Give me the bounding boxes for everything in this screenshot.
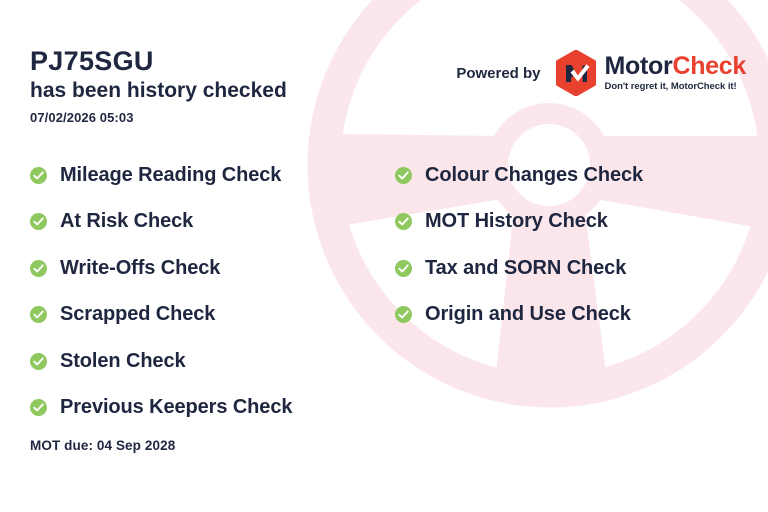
green-check-circle-icon (30, 353, 47, 370)
green-check-circle-icon (395, 260, 412, 277)
report-card: PJ75SGU has been history checked 07/02/2… (0, 0, 768, 512)
wordmark-motor: Motor (605, 52, 673, 80)
check-item: Colour Changes Check (395, 152, 740, 199)
green-check-circle-icon (395, 167, 412, 184)
motorcheck-logo[interactable]: MotorCheck Don't regret it, MotorCheck i… (555, 50, 746, 96)
green-check-circle-icon (30, 213, 47, 230)
powered-by-label: Powered by (456, 65, 540, 82)
green-check-circle-icon (30, 306, 47, 323)
green-check-circle-icon (30, 399, 47, 416)
green-check-circle-icon (395, 306, 412, 323)
check-label: Stolen Check (60, 350, 186, 373)
check-label: Write-Offs Check (60, 257, 220, 280)
motorcheck-hexagon-m-check-icon (555, 50, 597, 96)
check-item: Mileage Reading Check (30, 152, 395, 199)
report-header: PJ75SGU has been history checked 07/02/2… (30, 46, 287, 125)
check-label: Colour Changes Check (425, 164, 643, 187)
brand-tagline: Don't regret it, MotorCheck it! (605, 82, 746, 92)
check-label: Tax and SORN Check (425, 257, 626, 280)
mot-due-label: MOT due: 04 Sep 2028 (30, 438, 175, 453)
vehicle-registration: PJ75SGU (30, 46, 287, 76)
check-label: Origin and Use Check (425, 303, 631, 326)
green-check-circle-icon (30, 167, 47, 184)
checks-column-left: Mileage Reading Check At Risk Check Writ… (30, 152, 395, 431)
wordmark-text: MotorCheck (605, 54, 746, 79)
check-label: Scrapped Check (60, 303, 215, 326)
report-subtitle: has been history checked (30, 78, 287, 104)
powered-by-branding: Powered by MotorCheck Don't regret it, M… (456, 50, 746, 96)
check-item: Write-Offs Check (30, 245, 395, 292)
check-item: Previous Keepers Check (30, 385, 395, 432)
check-label: Mileage Reading Check (60, 164, 281, 187)
report-timestamp: 07/02/2026 05:03 (30, 110, 287, 125)
check-item: Stolen Check (30, 338, 395, 385)
check-label: At Risk Check (60, 210, 193, 233)
checks-column-right: Colour Changes Check MOT History Check T… (395, 152, 740, 431)
checks-list: Mileage Reading Check At Risk Check Writ… (30, 152, 740, 431)
check-item: At Risk Check (30, 199, 395, 246)
check-item: Origin and Use Check (395, 292, 740, 339)
green-check-circle-icon (395, 213, 412, 230)
check-item: Scrapped Check (30, 292, 395, 339)
green-check-circle-icon (30, 260, 47, 277)
check-label: MOT History Check (425, 210, 608, 233)
motorcheck-wordmark: MotorCheck Don't regret it, MotorCheck i… (605, 54, 746, 92)
check-item: MOT History Check (395, 199, 740, 246)
check-item: Tax and SORN Check (395, 245, 740, 292)
check-label: Previous Keepers Check (60, 396, 292, 419)
wordmark-check: Check (672, 52, 746, 80)
